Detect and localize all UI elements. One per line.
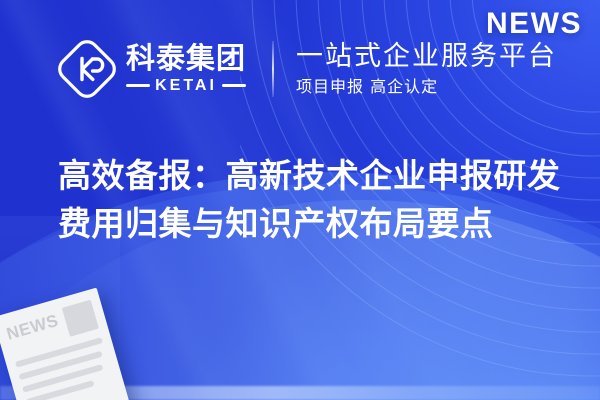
headline: 高效备报：高新技术企业申报研发 费用归集与知识产权布局要点 (58, 152, 570, 248)
brand-name-en-row: KETAI (126, 77, 246, 95)
headline-line-1: 高效备报：高新技术企业申报研发 (58, 152, 570, 200)
newspaper-masthead-title: NEWS (4, 310, 60, 343)
news-banner: NEWS 科泰集团 KETAI (0, 0, 600, 400)
ketai-kp-diamond-logo-icon (58, 40, 116, 98)
brand-logo: 科泰集团 KETAI (58, 40, 246, 98)
brand-name-cn: 科泰集团 (126, 43, 246, 74)
news-label: NEWS (486, 7, 582, 41)
brand-name-en: KETAI (155, 77, 217, 95)
newspaper-thumbnail-placeholder (62, 300, 99, 337)
banner-header: 科泰集团 KETAI 一站式企业服务平台 项目申报 高企认定 (58, 40, 557, 98)
brand-wordmark: 科泰集团 KETAI (126, 43, 246, 94)
wordmark-rule-right (222, 84, 246, 87)
wordmark-rule-left (126, 84, 150, 87)
tagline-main: 一站式企业服务平台 (296, 42, 557, 72)
header-divider (272, 41, 274, 97)
tagline-group: 一站式企业服务平台 项目申报 高企认定 (296, 42, 557, 96)
headline-line-2: 费用归集与知识产权布局要点 (58, 200, 570, 248)
tagline-sub: 项目申报 高企认定 (296, 77, 557, 96)
